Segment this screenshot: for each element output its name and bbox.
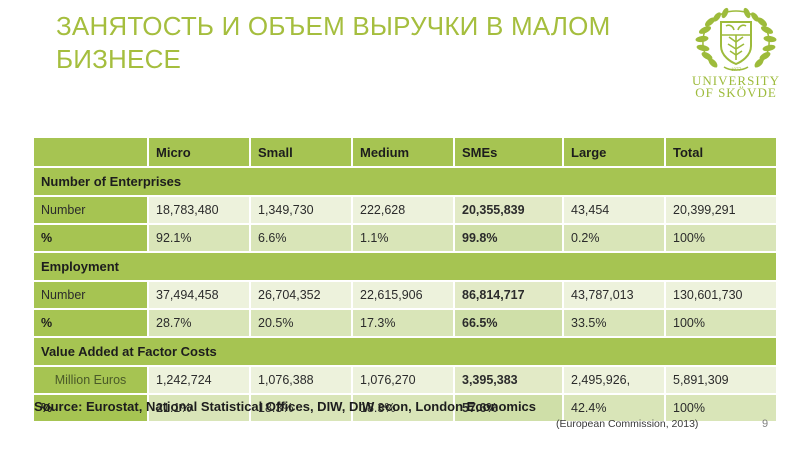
column-header-micro: Micro <box>149 138 249 166</box>
table-section-header-row: Employment <box>34 253 776 280</box>
cell-micro: 28.7% <box>149 310 249 336</box>
column-header-medium: Medium <box>353 138 453 166</box>
page-title: ЗАНЯТОСТЬ И ОБЪЕМ ВЫРУЧКИ В МАЛОМ БИЗНЕС… <box>56 10 676 76</box>
statistics-table: MicroSmallMediumSMEsLargeTotalNumber of … <box>32 136 778 423</box>
cell-small: 6.6% <box>251 225 351 251</box>
table-row: %92.1%6.6%1.1%99.8%0.2%100% <box>34 225 776 251</box>
statistics-table-container: MicroSmallMediumSMEsLargeTotalNumber of … <box>32 136 768 423</box>
column-header-smes: SMEs <box>455 138 562 166</box>
section-title: Number of Enterprises <box>34 168 776 195</box>
cell-micro: 37,494,458 <box>149 282 249 308</box>
cell-micro: 1,242,724 <box>149 367 249 393</box>
cell-smes: 66.5% <box>455 310 562 336</box>
cell-smes: 3,395,383 <box>455 367 562 393</box>
cell-medium: 1,076,270 <box>353 367 453 393</box>
source-note: Source: Eurostat, National Statistical O… <box>34 399 536 414</box>
cell-total: 130,601,730 <box>666 282 776 308</box>
section-title: Employment <box>34 253 776 280</box>
cell-total: 100% <box>666 225 776 251</box>
row-label: Million Euros <box>34 367 147 393</box>
cell-medium: 1.1% <box>353 225 453 251</box>
table-row: %28.7%20.5%17.3%66.5%33.5%100% <box>34 310 776 336</box>
cell-medium: 17.3% <box>353 310 453 336</box>
cell-large: 33.5% <box>564 310 664 336</box>
cell-large: 43,454 <box>564 197 664 223</box>
cell-total: 20,399,291 <box>666 197 776 223</box>
row-label: Number <box>34 282 147 308</box>
page-number: 9 <box>762 418 768 430</box>
skovde-crest-icon: 1977 <box>684 2 788 76</box>
row-label: % <box>34 225 147 251</box>
column-header-blank <box>34 138 147 166</box>
column-header-small: Small <box>251 138 351 166</box>
row-label: Number <box>34 197 147 223</box>
cell-small: 1,076,388 <box>251 367 351 393</box>
cell-large: 0.2% <box>564 225 664 251</box>
table-row: Number37,494,45826,704,35222,615,90686,8… <box>34 282 776 308</box>
cell-medium: 222,628 <box>353 197 453 223</box>
attribution-note: (European Commission, 2013) <box>556 418 698 430</box>
cell-total: 100% <box>666 310 776 336</box>
university-logo: 1977 UNIVERSITY OF SKÖVDE <box>684 2 788 110</box>
cell-smes: 86,814,717 <box>455 282 562 308</box>
column-header-total: Total <box>666 138 776 166</box>
cell-small: 26,704,352 <box>251 282 351 308</box>
cell-large: 2,495,926, <box>564 367 664 393</box>
cell-medium: 22,615,906 <box>353 282 453 308</box>
table-section-header-row: Number of Enterprises <box>34 168 776 195</box>
cell-smes: 20,355,839 <box>455 197 562 223</box>
cell-small: 20.5% <box>251 310 351 336</box>
row-label: % <box>34 310 147 336</box>
cell-small: 1,349,730 <box>251 197 351 223</box>
cell-micro: 18,783,480 <box>149 197 249 223</box>
cell-total: 5,891,309 <box>666 367 776 393</box>
table-row: Million Euros1,242,7241,076,3881,076,270… <box>34 367 776 393</box>
cell-smes: 99.8% <box>455 225 562 251</box>
table-section-header-row: Value Added at Factor Costs <box>34 338 776 365</box>
cell-micro: 92.1% <box>149 225 249 251</box>
logo-text-line2: OF SKÖVDE <box>684 86 788 100</box>
cell-large: 43,787,013 <box>564 282 664 308</box>
table-header-row: MicroSmallMediumSMEsLargeTotal <box>34 138 776 166</box>
section-title: Value Added at Factor Costs <box>34 338 776 365</box>
column-header-large: Large <box>564 138 664 166</box>
table-row: Number18,783,4801,349,730222,62820,355,8… <box>34 197 776 223</box>
